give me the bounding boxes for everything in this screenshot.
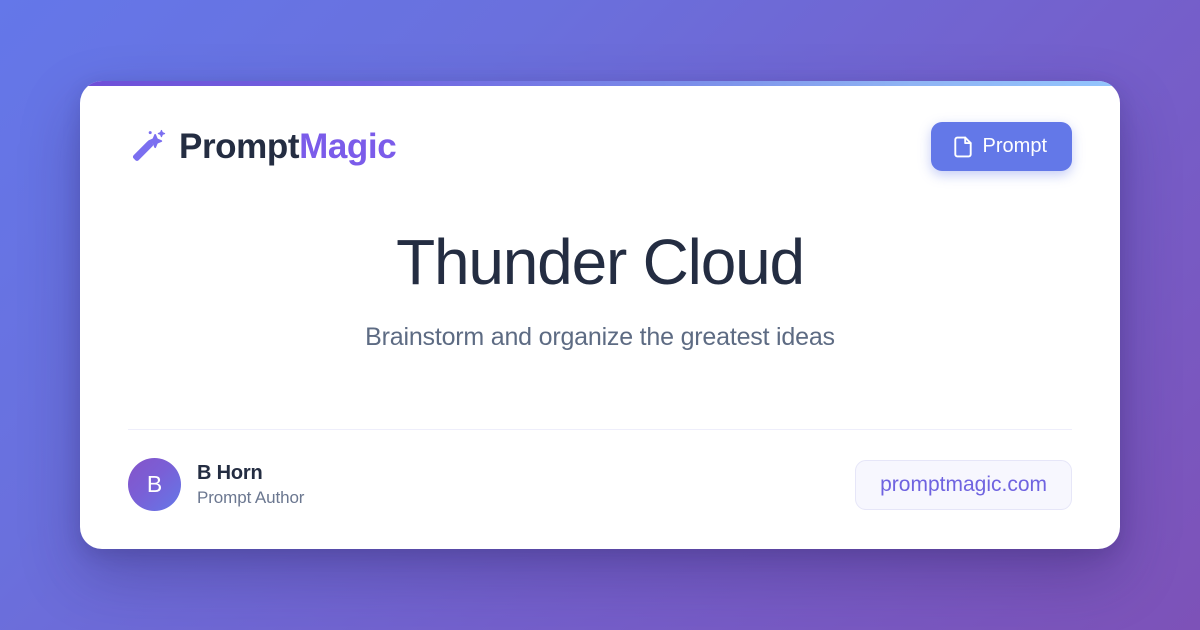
share-card: PromptMagic Prompt Thunder Cloud Brainst… bbox=[80, 81, 1120, 549]
brand-name-accent: Magic bbox=[299, 127, 396, 166]
brand-logo[interactable]: PromptMagic bbox=[128, 128, 396, 166]
url-badge[interactable]: promptmagic.com bbox=[855, 460, 1072, 510]
author-block: B B Horn Prompt Author bbox=[128, 458, 304, 511]
top-accent-bar bbox=[80, 81, 1120, 86]
brand-name-primary: Prompt bbox=[179, 127, 299, 166]
magic-wand-icon bbox=[128, 128, 166, 166]
avatar: B bbox=[128, 458, 181, 511]
card-footer: B B Horn Prompt Author promptmagic.com bbox=[128, 430, 1072, 549]
author-text: B Horn Prompt Author bbox=[197, 462, 304, 508]
page-subtitle: Brainstorm and organize the greatest ide… bbox=[365, 323, 835, 352]
prompt-button-label: Prompt bbox=[983, 135, 1047, 158]
author-name: B Horn bbox=[197, 462, 304, 485]
prompt-button[interactable]: Prompt bbox=[931, 122, 1072, 171]
brand-name: PromptMagic bbox=[179, 129, 396, 164]
card-header: PromptMagic Prompt bbox=[128, 81, 1072, 171]
page-title: Thunder Cloud bbox=[396, 228, 804, 297]
author-role: Prompt Author bbox=[197, 488, 304, 508]
file-document-icon bbox=[953, 136, 973, 158]
card-main: Thunder Cloud Brainstorm and organize th… bbox=[128, 171, 1072, 429]
